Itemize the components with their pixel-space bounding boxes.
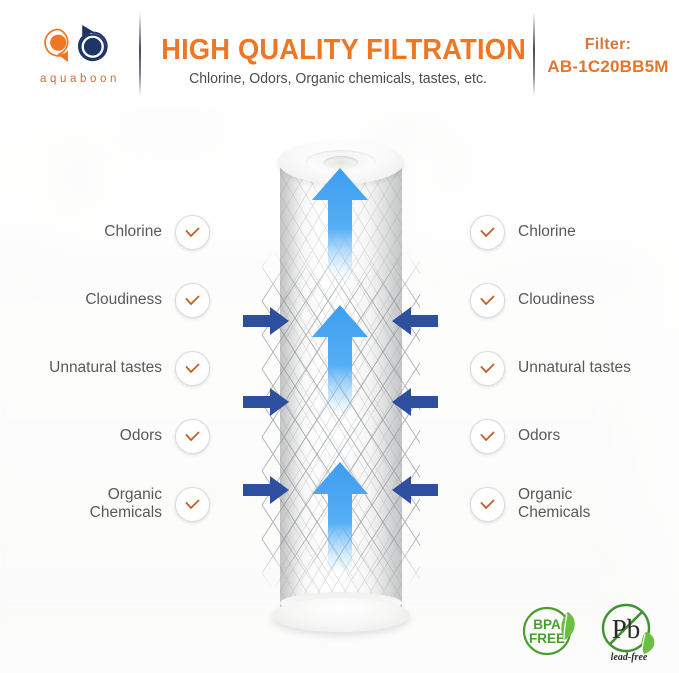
feature-item-chlorine-right: Chlorine <box>470 198 679 266</box>
check-icon <box>175 283 210 318</box>
filter-model-code: AB-1C20BB5M <box>540 57 676 77</box>
feature-label: Unnatural tastes <box>49 359 175 377</box>
feature-label: Odors <box>120 427 175 445</box>
feature-label: Odors <box>505 427 560 445</box>
certification-badges: BPA FREE Pb lead-free <box>518 598 678 668</box>
header-divider-left <box>139 12 141 96</box>
navy-inward-arrow-icon <box>243 388 289 416</box>
navy-inward-arrow-icon <box>392 307 438 335</box>
check-icon <box>470 487 505 522</box>
blue-up-arrow-icon <box>312 462 364 572</box>
check-icon <box>175 487 210 522</box>
lead-free-caption: lead-free <box>611 652 648 663</box>
blue-up-arrow-icon <box>312 305 364 415</box>
logo-droplet-a-icon <box>42 28 76 62</box>
check-icon <box>175 215 210 250</box>
brand-logo: aquaboon <box>28 26 132 88</box>
feature-label: Cloudiness <box>505 291 595 309</box>
feature-label: Chlorine <box>505 223 576 241</box>
header-bar: aquaboon HIGH QUALITY FILTRATION Chlorin… <box>0 0 679 108</box>
feature-item-unnatural-tastes-left: Unnatural tastes <box>0 334 210 402</box>
check-icon <box>470 419 505 454</box>
title-block: HIGH QUALITY FILTRATION Chlorine, Odors,… <box>150 33 526 87</box>
check-icon <box>470 351 505 386</box>
product-infographic: aquaboon HIGH QUALITY FILTRATION Chlorin… <box>0 0 679 673</box>
bpa-line2: FREE <box>529 631 565 646</box>
cartridge-bottom-cap <box>272 598 410 632</box>
filter-code-block: Filter: AB-1C20BB5M <box>540 36 676 77</box>
check-icon <box>470 283 505 318</box>
feature-label: Unnatural tastes <box>505 359 631 377</box>
feature-item-organic-chemicals-left: Organic Chemicals <box>0 470 210 538</box>
feature-label: Organic Chemicals <box>90 486 175 522</box>
features-right-column: Chlorine Cloudiness Unnatural tastes Odo… <box>470 198 679 538</box>
navy-inward-arrow-icon <box>392 388 438 416</box>
feature-label: Organic Chemicals <box>505 486 590 522</box>
feature-label: Chlorine <box>104 223 175 241</box>
features-left-column: Chlorine Cloudiness Unnatural tastes Odo… <box>0 198 210 538</box>
page-title: HIGH QUALITY FILTRATION <box>161 33 514 67</box>
header-divider-right <box>533 12 535 96</box>
navy-inward-arrow-icon <box>243 476 289 504</box>
blue-up-arrow-icon <box>312 168 364 278</box>
feature-item-unnatural-tastes-right: Unnatural tastes <box>470 334 679 402</box>
aquaboon-logo-icon <box>38 26 122 68</box>
feature-item-odors-right: Odors <box>470 402 679 470</box>
feature-item-organic-chemicals-right: Organic Chemicals <box>470 470 679 538</box>
page-subtitle: Chlorine, Odors, Organic chemicals, tast… <box>156 71 521 87</box>
navy-inward-arrow-icon <box>243 307 289 335</box>
feature-item-cloudiness-right: Cloudiness <box>470 266 679 334</box>
logo-droplet-b-icon <box>72 25 110 65</box>
lead-free-badge: Pb lead-free <box>596 598 668 664</box>
bpa-free-badge: BPA FREE <box>518 600 580 662</box>
feature-item-odors-left: Odors <box>0 402 210 470</box>
brand-name: aquaboon <box>28 73 132 85</box>
bpa-line1: BPA <box>533 617 561 632</box>
check-icon <box>175 419 210 454</box>
filter-label: Filter: <box>540 36 676 54</box>
lead-symbol: Pb <box>612 614 641 644</box>
feature-item-cloudiness-left: Cloudiness <box>0 266 210 334</box>
feature-item-chlorine-left: Chlorine <box>0 198 210 266</box>
check-icon <box>175 351 210 386</box>
feature-label: Cloudiness <box>85 291 175 309</box>
check-icon <box>470 215 505 250</box>
navy-inward-arrow-icon <box>392 476 438 504</box>
